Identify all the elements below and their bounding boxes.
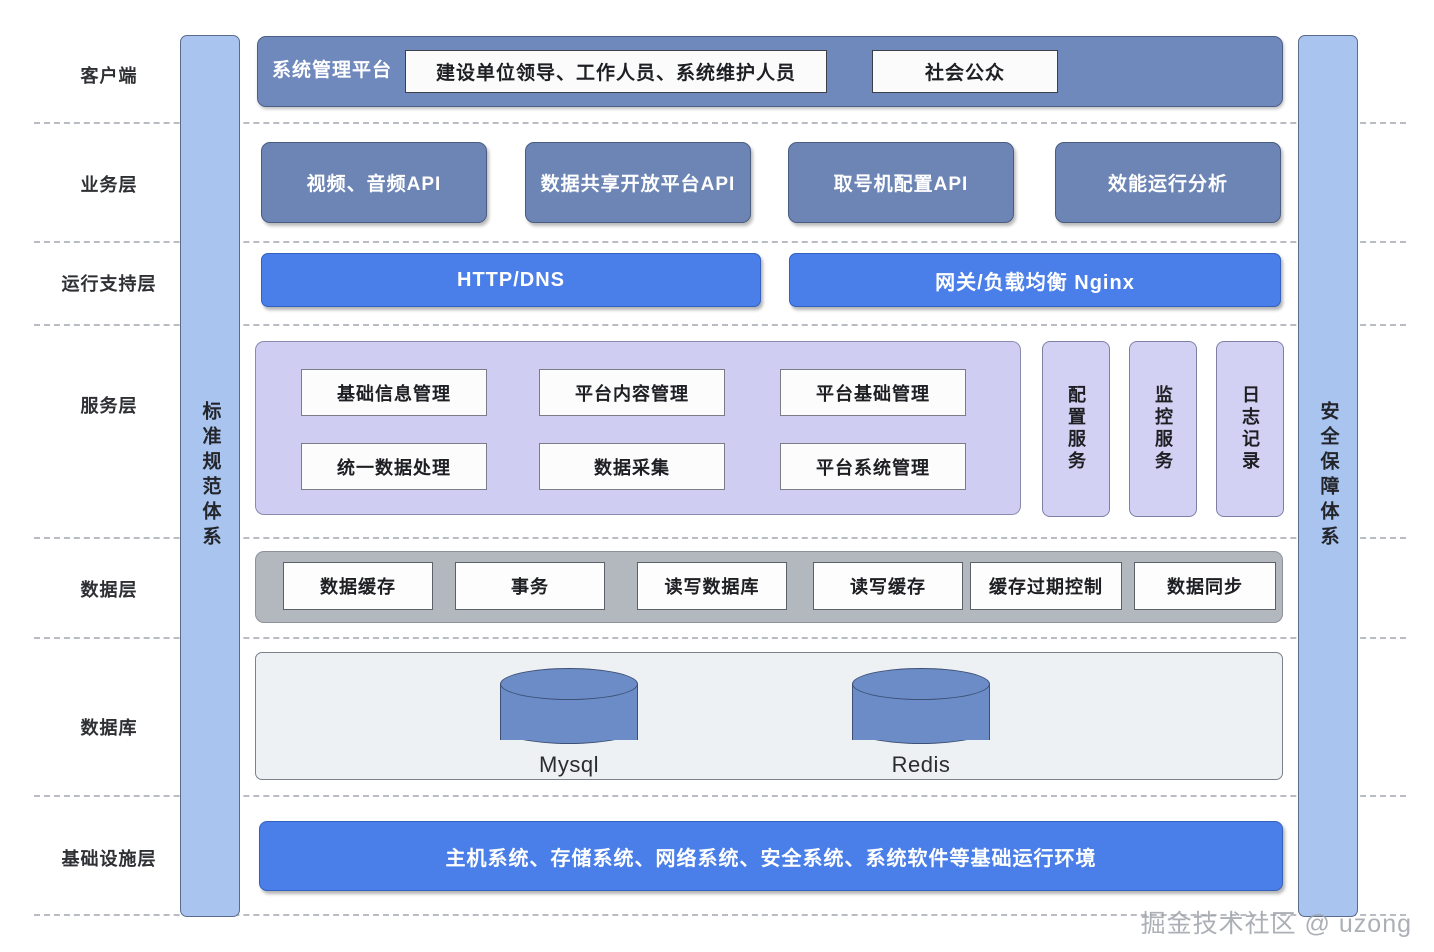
client-box-public[interactable]: 社会公众 xyxy=(872,50,1058,93)
database-cylinder-icon xyxy=(500,668,638,746)
business-box-ticket-config-api[interactable]: 取号机配置API xyxy=(788,142,1014,223)
run-support-box-http-dns[interactable]: HTTP/DNS xyxy=(261,253,761,307)
database-label-mysql: Mysql xyxy=(539,752,599,778)
service-box-platform-content-mgmt[interactable]: 平台内容管理 xyxy=(539,369,725,416)
database-layer-container xyxy=(255,652,1283,780)
client-layer-title: 系统管理平台 xyxy=(266,46,398,96)
service-vertical-box-log-record[interactable]: 日志记录 xyxy=(1216,341,1284,517)
run-support-box-gateway-nginx[interactable]: 网关/负载均衡 Nginx xyxy=(789,253,1281,307)
service-box-data-collection[interactable]: 数据采集 xyxy=(539,443,725,490)
service-box-platform-basic-mgmt[interactable]: 平台基础管理 xyxy=(780,369,966,416)
business-box-video-audio-api[interactable]: 视频、音频API xyxy=(261,142,487,223)
service-box-platform-system-mgmt[interactable]: 平台系统管理 xyxy=(780,443,966,490)
data-box-data-sync[interactable]: 数据同步 xyxy=(1134,562,1276,610)
row-label-run-support: 运行支持层 xyxy=(34,270,184,296)
client-box-staff[interactable]: 建设单位领导、工作人员、系统维护人员 xyxy=(405,50,827,93)
service-box-basic-info-mgmt[interactable]: 基础信息管理 xyxy=(301,369,487,416)
row-label-client: 客户端 xyxy=(34,62,184,88)
business-box-efficiency-analysis[interactable]: 效能运行分析 xyxy=(1055,142,1281,223)
data-box-transaction[interactable]: 事务 xyxy=(455,562,605,610)
data-box-cache-expiry-control[interactable]: 缓存过期控制 xyxy=(970,562,1122,610)
service-vertical-box-config-service[interactable]: 配置服务 xyxy=(1042,341,1110,517)
row-label-business: 业务层 xyxy=(34,171,184,197)
service-vertical-label-log-record: 日志记录 xyxy=(1241,385,1259,473)
side-bar-security: 安全保障体系 xyxy=(1298,35,1358,917)
data-box-read-write-db[interactable]: 读写数据库 xyxy=(637,562,787,610)
watermark: 掘金技术社区 @ uzong xyxy=(1141,904,1412,940)
side-bar-security-label: 安全保障体系 xyxy=(1319,401,1338,551)
architecture-diagram: 客户端 业务层 运行支持层 服务层 数据层 数据库 基础设施层 标准规范体系 安… xyxy=(0,0,1434,952)
service-vertical-label-monitor-service: 监控服务 xyxy=(1154,385,1172,473)
data-box-data-cache[interactable]: 数据缓存 xyxy=(283,562,433,610)
database-unit-mysql[interactable]: Mysql xyxy=(500,668,638,778)
database-label-redis: Redis xyxy=(892,752,951,778)
database-unit-redis[interactable]: Redis xyxy=(852,668,990,778)
row-label-data: 数据层 xyxy=(34,576,184,602)
row-label-infrastructure: 基础设施层 xyxy=(34,845,184,871)
service-vertical-box-monitor-service[interactable]: 监控服务 xyxy=(1129,341,1197,517)
row-label-service: 服务层 xyxy=(34,392,184,418)
service-box-unified-data-processing[interactable]: 统一数据处理 xyxy=(301,443,487,490)
business-box-data-sharing-api[interactable]: 数据共享开放平台API xyxy=(525,142,751,223)
infrastructure-box[interactable]: 主机系统、存储系统、网络系统、安全系统、系统软件等基础运行环境 xyxy=(259,821,1283,891)
service-vertical-label-config-service: 配置服务 xyxy=(1067,385,1085,473)
database-cylinder-icon xyxy=(852,668,990,746)
side-bar-standards: 标准规范体系 xyxy=(180,35,240,917)
side-bar-standards-label: 标准规范体系 xyxy=(201,401,220,551)
data-box-read-write-cache[interactable]: 读写缓存 xyxy=(813,562,963,610)
row-label-database: 数据库 xyxy=(34,714,184,740)
